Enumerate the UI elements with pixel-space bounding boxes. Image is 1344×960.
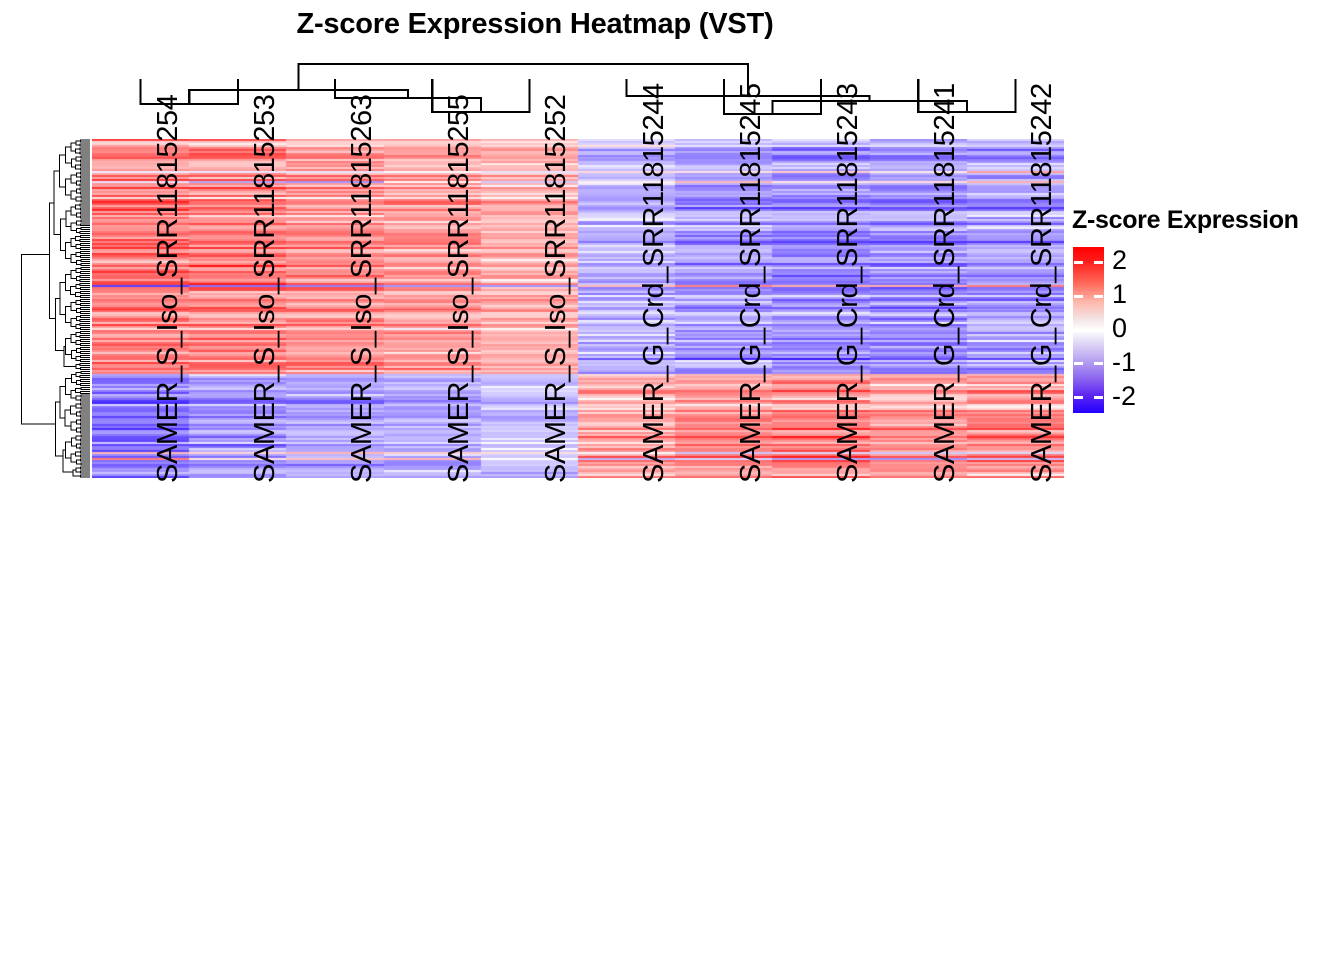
page-title: Z-score Expression Heatmap (VST)	[0, 8, 1070, 41]
dendrogram-link	[81, 399, 90, 401]
dendrogram-link	[71, 287, 76, 295]
dendrogram-link	[80, 327, 90, 329]
dendrogram-link	[81, 252, 90, 254]
dendrogram-link	[81, 475, 90, 477]
dendrogram-link	[76, 348, 80, 352]
dendrogram-link	[80, 375, 90, 377]
colorbar-tick	[1094, 329, 1103, 332]
dendrogram-link	[81, 272, 90, 274]
heatmap-grid	[92, 139, 1064, 478]
dendrogram-link	[76, 388, 81, 392]
dendrogram-link	[80, 192, 90, 194]
dendrogram-link	[71, 374, 76, 382]
dendrogram-link	[76, 285, 80, 289]
dendrogram-link	[81, 260, 90, 262]
colorbar-tick-label: 0	[1112, 315, 1127, 342]
dendrogram-link	[80, 411, 90, 413]
dendrogram-link	[80, 459, 90, 461]
dendrogram-link	[80, 455, 90, 457]
dendrogram-link	[80, 280, 90, 282]
dendrogram-link	[71, 406, 77, 414]
dendrogram-link	[81, 431, 90, 433]
dendrogram-link	[80, 276, 90, 278]
dendrogram-link	[80, 176, 90, 178]
dendrogram-link	[81, 156, 90, 158]
colorbar-tick	[1094, 261, 1103, 264]
dendrogram-link	[49, 203, 55, 319]
dendrogram-link	[81, 300, 90, 302]
colorbar-tick	[1094, 362, 1103, 365]
dendrogram-link	[76, 380, 80, 384]
colorbar-tick	[1074, 396, 1083, 399]
dendrogram-link	[76, 141, 80, 145]
dendrogram-link	[81, 331, 90, 333]
dendrogram-link	[81, 308, 90, 310]
dendrogram-link	[80, 256, 90, 258]
dendrogram-link	[80, 216, 90, 218]
dendrogram-link	[65, 307, 71, 323]
colorbar-tick	[1094, 295, 1103, 298]
dendrogram-link	[81, 268, 90, 270]
dendrogram-link	[71, 175, 76, 183]
dendrogram-link	[73, 470, 80, 476]
dendrogram-link	[80, 292, 90, 294]
dendrogram-link	[80, 244, 90, 246]
dendrogram-link	[80, 351, 90, 353]
dendrogram-link	[76, 261, 81, 265]
dendrogram-root-link	[22, 255, 56, 425]
dendrogram-link	[71, 390, 76, 398]
column-dendrogram	[92, 58, 1064, 138]
dendrogram-link	[66, 147, 72, 163]
dendrogram-link	[80, 232, 90, 234]
dendrogram-link	[60, 283, 65, 315]
dendrogram-link	[76, 396, 81, 400]
dendrogram-link	[80, 152, 90, 154]
dendrogram-link	[65, 410, 71, 426]
dendrogram-link	[55, 402, 63, 456]
dendrogram-link	[81, 236, 90, 238]
colorbar-tick	[1074, 329, 1083, 332]
dendrogram-link	[65, 179, 71, 195]
dendrogram-link	[80, 212, 90, 214]
dendrogram-link	[81, 463, 90, 465]
dendrogram-link	[80, 315, 90, 317]
dendrogram-link	[81, 160, 90, 162]
dendrogram-link	[81, 407, 90, 409]
dendrogram-link	[80, 355, 90, 357]
dendrogram-link	[76, 356, 80, 360]
dendrogram-link	[80, 148, 90, 150]
dendrogram-link	[76, 149, 81, 153]
dendrogram-link	[71, 303, 77, 311]
dendrogram-link	[81, 395, 90, 397]
dendrogram-link	[80, 403, 90, 405]
dendrogram-link	[80, 168, 90, 170]
dendrogram-link	[80, 144, 90, 146]
dendrogram-link	[76, 197, 81, 201]
dendrogram-link	[65, 442, 71, 458]
colorbar	[1073, 247, 1104, 413]
dendrogram-link	[81, 471, 90, 473]
dendrogram-link	[81, 383, 90, 385]
dendrogram-link	[80, 379, 90, 381]
dendrogram-link	[71, 223, 76, 231]
dendrogram-link	[81, 224, 90, 226]
column-label: SAMER_G_Crd_SRR11815242	[1026, 83, 1059, 483]
heatmap-figure: Z-score Expression Heatmap (VST) SAMER_S…	[0, 0, 1344, 960]
dendrogram-link	[81, 347, 90, 349]
dendrogram-link	[76, 277, 80, 281]
dendrogram-link	[81, 359, 91, 361]
dendrogram-link	[80, 296, 90, 298]
dendrogram-link	[76, 157, 81, 161]
dendrogram-link	[81, 435, 90, 437]
dendrogram-link	[81, 423, 90, 425]
dendrogram-link	[71, 422, 77, 430]
dendrogram-link	[80, 248, 90, 250]
column-label: SAMER_S_Iso_SRR11815263	[346, 95, 379, 483]
dendrogram-link	[80, 304, 90, 306]
dendrogram-link	[80, 164, 90, 166]
dendrogram-link	[71, 255, 76, 263]
dendrogram-link	[80, 323, 90, 325]
dendrogram-link	[80, 447, 90, 449]
dendrogram-link	[80, 284, 90, 286]
dendrogram-link	[80, 311, 90, 313]
column-label: SAMER_G_Crd_SRR11815245	[735, 83, 768, 483]
column-label: SAMER_G_Crd_SRR11815244	[638, 83, 671, 483]
dendrogram-link	[65, 338, 71, 354]
dendrogram-link	[80, 419, 90, 421]
dendrogram-link	[299, 64, 748, 96]
dendrogram-link	[60, 155, 66, 187]
dendrogram-link	[76, 340, 80, 344]
dendrogram-link	[80, 415, 90, 417]
colorbar-tick	[1074, 362, 1083, 365]
dendrogram-link	[81, 427, 90, 429]
dendrogram-link	[76, 293, 81, 297]
column-label: SAMER_S_Iso_SRR11815254	[152, 95, 185, 483]
dendrogram-link	[81, 208, 90, 210]
column-label: SAMER_G_Crd_SRR11815241	[929, 83, 962, 483]
colorbar-tick-label: 1	[1112, 281, 1127, 308]
legend: Z-score Expression 210-1-2	[1072, 206, 1336, 421]
dendrogram-link	[80, 363, 90, 365]
dendrogram-link	[81, 200, 90, 202]
dendrogram-link	[80, 319, 90, 321]
dendrogram-link	[80, 288, 90, 290]
dendrogram-link	[81, 367, 90, 369]
dendrogram-link	[80, 188, 90, 190]
dendrogram-link	[81, 451, 90, 453]
dendrogram-link	[80, 439, 90, 441]
colorbar-tick-label: 2	[1112, 247, 1127, 274]
dendrogram-link	[81, 172, 90, 174]
dendrogram-link	[80, 335, 90, 337]
row-dendrogram	[20, 139, 90, 478]
dendrogram-link	[76, 165, 81, 169]
dendrogram-link	[80, 184, 90, 186]
dendrogram-link	[76, 428, 80, 432]
dendrogram-link	[80, 467, 90, 469]
dendrogram-link	[81, 220, 90, 222]
dendrogram-link	[81, 228, 90, 230]
colorbar-tick	[1074, 261, 1083, 264]
column-label: SAMER_G_Crd_SRR11815243	[832, 83, 865, 483]
dendrogram-link	[81, 371, 90, 373]
dendrogram-link	[81, 391, 90, 393]
colorbar-tick-label: -1	[1112, 349, 1136, 376]
dendrogram-link	[76, 468, 81, 472]
dendrogram-link	[80, 240, 90, 242]
dendrogram-link	[80, 204, 90, 206]
dendrogram-link	[81, 196, 90, 198]
dendrogram-link	[81, 387, 90, 389]
column-label: SAMER_S_Iso_SRR11815252	[540, 95, 573, 483]
column-label: SAMER_S_Iso_SRR11815255	[443, 95, 476, 483]
heatmap-cells	[92, 139, 1064, 478]
colorbar-tick	[1074, 295, 1083, 298]
dendrogram-link	[71, 334, 76, 342]
dendrogram-link	[80, 343, 90, 345]
dendrogram-link	[66, 378, 72, 394]
legend-title: Z-score Expression	[1072, 206, 1299, 235]
dendrogram-link	[76, 301, 80, 305]
dendrogram-link	[80, 339, 90, 341]
dendrogram-link	[80, 180, 90, 182]
dendrogram-link	[81, 264, 90, 266]
dendrogram-link	[76, 269, 81, 273]
dendrogram-link	[80, 140, 90, 142]
dendrogram-link	[66, 211, 71, 227]
colorbar-tick-label: -2	[1112, 383, 1136, 410]
dendrogram-link	[65, 243, 70, 259]
column-label: SAMER_S_Iso_SRR11815253	[249, 95, 282, 483]
colorbar-tick	[1094, 396, 1103, 399]
dendrogram-link	[81, 443, 90, 445]
